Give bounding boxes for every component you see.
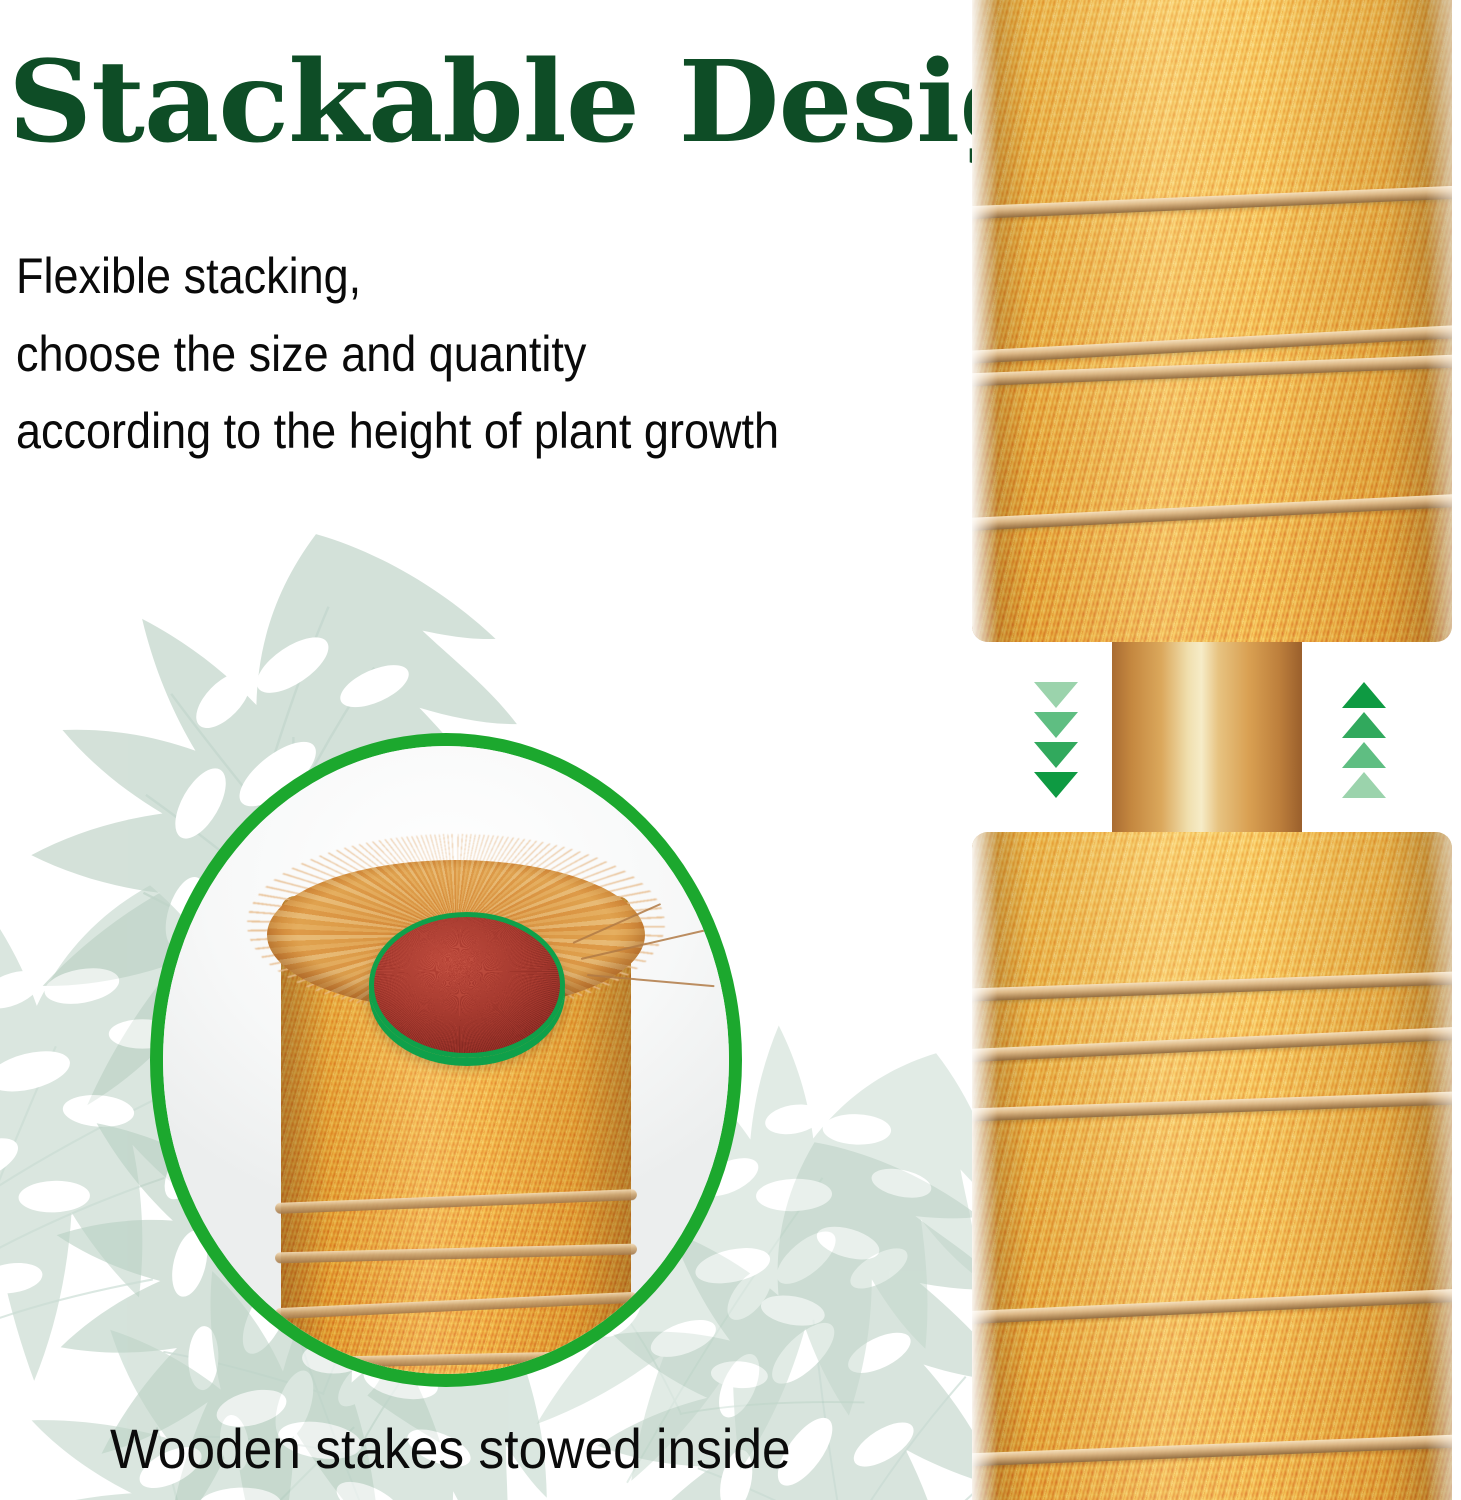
arrow-up-icon xyxy=(1342,742,1386,768)
wooden-dowel-connector xyxy=(1112,630,1302,842)
inset-caption: Wooden stakes stowed inside xyxy=(110,1418,864,1480)
arrow-down-icon xyxy=(1034,772,1078,798)
arrow-up-icon xyxy=(1342,682,1386,708)
description-line-1: Flexible stacking, xyxy=(16,238,880,316)
infographic-canvas: Stackable Design Flexible stacking, choo… xyxy=(0,0,1461,1500)
description-text: Flexible stacking, choose the size and q… xyxy=(16,238,880,471)
arrow-up-icon xyxy=(1342,712,1386,738)
lower-pole-fiber-texture xyxy=(972,832,1452,1500)
arrow-down-icon xyxy=(1034,742,1078,768)
arrow-up-icon xyxy=(1342,772,1386,798)
upper-pole-fiber-texture xyxy=(972,0,1452,642)
coir-pole-top xyxy=(281,896,631,1387)
upper-moss-pole xyxy=(972,0,1452,642)
stack-up-arrows xyxy=(1342,682,1386,802)
description-line-3: according to the height of plant growth xyxy=(16,393,880,471)
arrow-down-icon xyxy=(1034,682,1078,708)
stack-down-arrows xyxy=(1034,682,1078,802)
arrow-down-icon xyxy=(1034,712,1078,738)
lower-moss-pole xyxy=(972,832,1452,1500)
pole-top-closeup-circle xyxy=(150,733,742,1387)
page-title: Stackable Design xyxy=(8,40,996,165)
red-end-cap xyxy=(369,912,565,1058)
description-line-2: choose the size and quantity xyxy=(16,316,880,394)
